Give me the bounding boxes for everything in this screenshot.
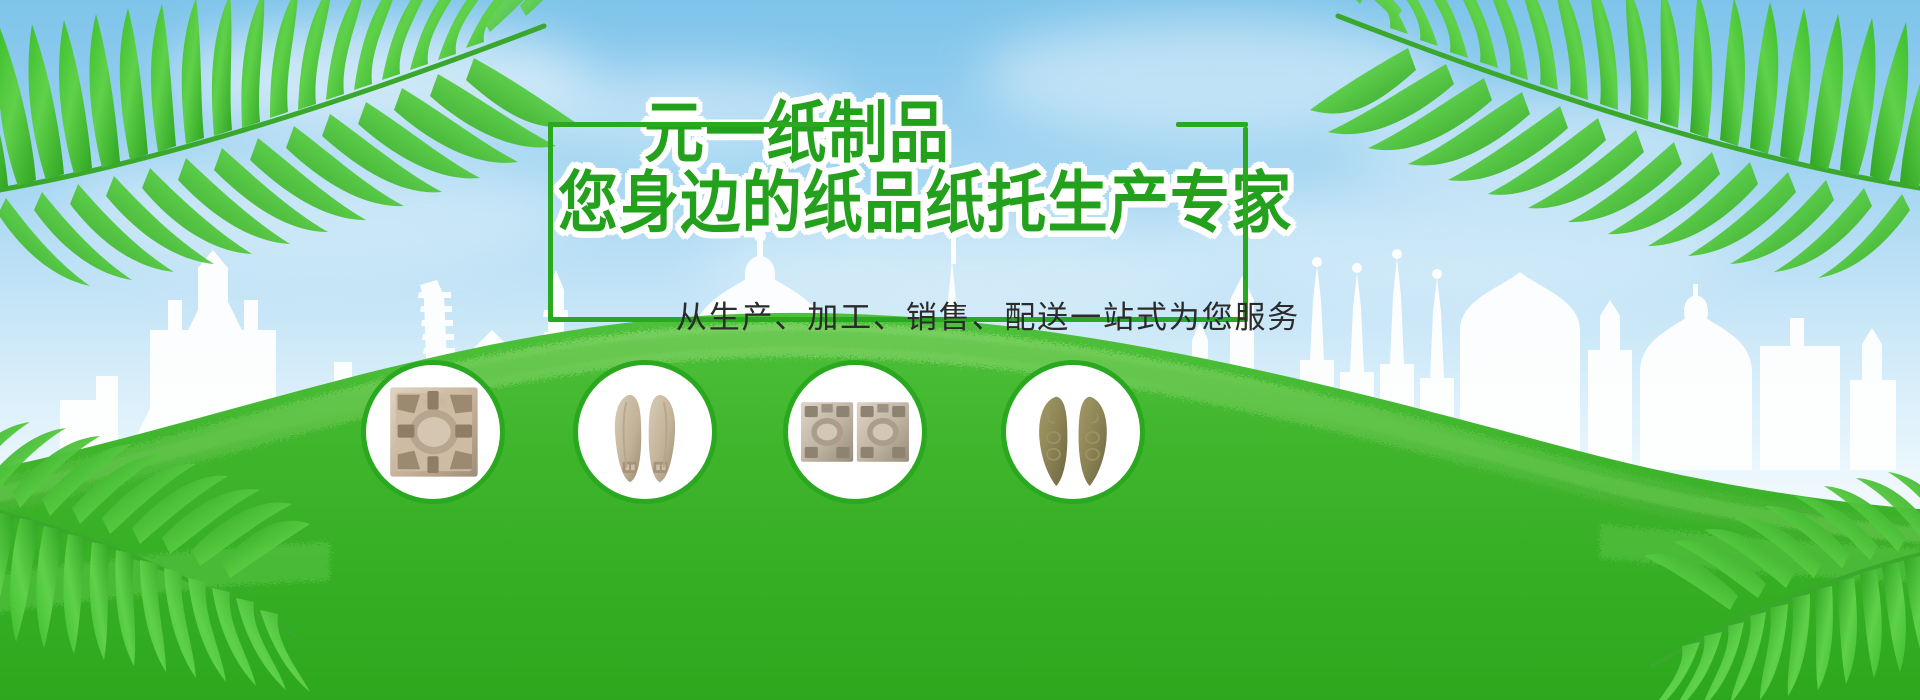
- product-circle-3[interactable]: [783, 360, 927, 504]
- frame-line-top-left: [548, 122, 868, 127]
- subtitle-text: 从生产、加工、销售、配送一站式为您服务: [488, 292, 1488, 337]
- frame-line-top-right: [1176, 122, 1248, 127]
- product-circle-4[interactable]: [1001, 360, 1145, 504]
- product-circle-2[interactable]: [573, 360, 717, 504]
- headline-line-2: 您身边的纸品纸托生产专家: [558, 170, 1292, 237]
- promo-banner: 元一纸制品 您身边的纸品纸托生产专家 从生产、加工、销售、配送一站式为您服务: [0, 0, 1920, 700]
- molded-pulp-square-tray-image: [366, 365, 500, 499]
- molded-pulp-shoe-insert-image: [578, 365, 712, 499]
- headline-line-1: 元一纸制品: [644, 100, 950, 167]
- product-circle-1[interactable]: [361, 360, 505, 504]
- molded-pulp-shoe-tree-image: [1006, 365, 1140, 499]
- molded-pulp-corner-pair-image: [788, 365, 922, 499]
- green-hill: [0, 280, 1920, 700]
